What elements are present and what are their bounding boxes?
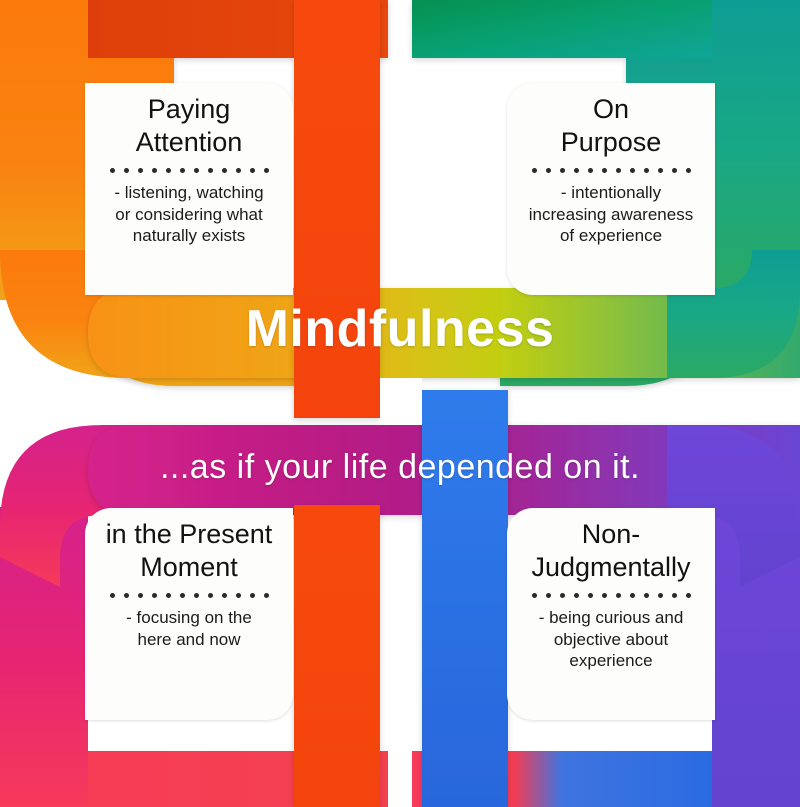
divider-dot [616, 593, 621, 598]
divider-dot [672, 593, 677, 598]
divider-dot [588, 168, 593, 173]
divider-dot [602, 168, 607, 173]
mindfulness-infographic: Mindfulness ...as if your life depended … [0, 0, 800, 807]
divider-dot [208, 593, 213, 598]
divider-dot [236, 593, 241, 598]
card-in-the-present-moment: in the Present Moment - focusing on the … [85, 508, 293, 720]
divider-dot [658, 593, 663, 598]
divider-dot [264, 168, 269, 173]
divider-dot [194, 168, 199, 173]
card-description: - focusing on the here and now [93, 607, 285, 650]
divider-dot [630, 593, 635, 598]
divider-dot [222, 168, 227, 173]
divider-dot [222, 593, 227, 598]
card-description: - being curious and objective about expe… [515, 607, 707, 672]
divider-dot [152, 168, 157, 173]
divider-dot [588, 593, 593, 598]
card-title: On Purpose [515, 93, 707, 159]
divider-dot [574, 593, 579, 598]
card-on-purpose: On Purpose - intentionally increasing aw… [507, 83, 715, 295]
divider-dot [180, 168, 185, 173]
divider-dot [602, 593, 607, 598]
card-description: - intentionally increasing awareness of … [515, 182, 707, 247]
card-title: in the Present Moment [93, 518, 285, 584]
divider-dot [532, 168, 537, 173]
divider-dot [630, 168, 635, 173]
divider-dot [194, 593, 199, 598]
divider-dot [152, 593, 157, 598]
divider-dot [686, 593, 691, 598]
divider-dot [166, 593, 171, 598]
divider-dot [250, 168, 255, 173]
divider-dot [546, 593, 551, 598]
divider-dot [124, 593, 129, 598]
divider-dot [644, 168, 649, 173]
card-title: Non- Judgmentally [515, 518, 707, 584]
divider-dot [644, 593, 649, 598]
divider-dot [672, 168, 677, 173]
divider-dot [166, 168, 171, 173]
divider-dot [236, 168, 241, 173]
divider-dot [658, 168, 663, 173]
divider-dot [208, 168, 213, 173]
divider-dot [616, 168, 621, 173]
divider-dot [560, 168, 565, 173]
divider-dot [124, 168, 129, 173]
divider-dot [560, 593, 565, 598]
dotted-divider [93, 593, 285, 598]
divider-dot [574, 168, 579, 173]
divider-dot [250, 593, 255, 598]
divider-dot [264, 593, 269, 598]
divider-dot [532, 593, 537, 598]
divider-dot [110, 168, 115, 173]
dotted-divider [93, 168, 285, 173]
divider-dot [138, 168, 143, 173]
divider-dot [180, 593, 185, 598]
card-paying-attention: Paying Attention - listening, watching o… [85, 83, 293, 295]
card-title: Paying Attention [93, 93, 285, 159]
divider-dot [138, 593, 143, 598]
card-description: - listening, watching or considering wha… [93, 182, 285, 247]
divider-dot [546, 168, 551, 173]
divider-dot [686, 168, 691, 173]
dotted-divider [515, 168, 707, 173]
card-non-judgmentally: Non- Judgmentally - being curious and ob… [507, 508, 715, 720]
dotted-divider [515, 593, 707, 598]
divider-dot [110, 593, 115, 598]
